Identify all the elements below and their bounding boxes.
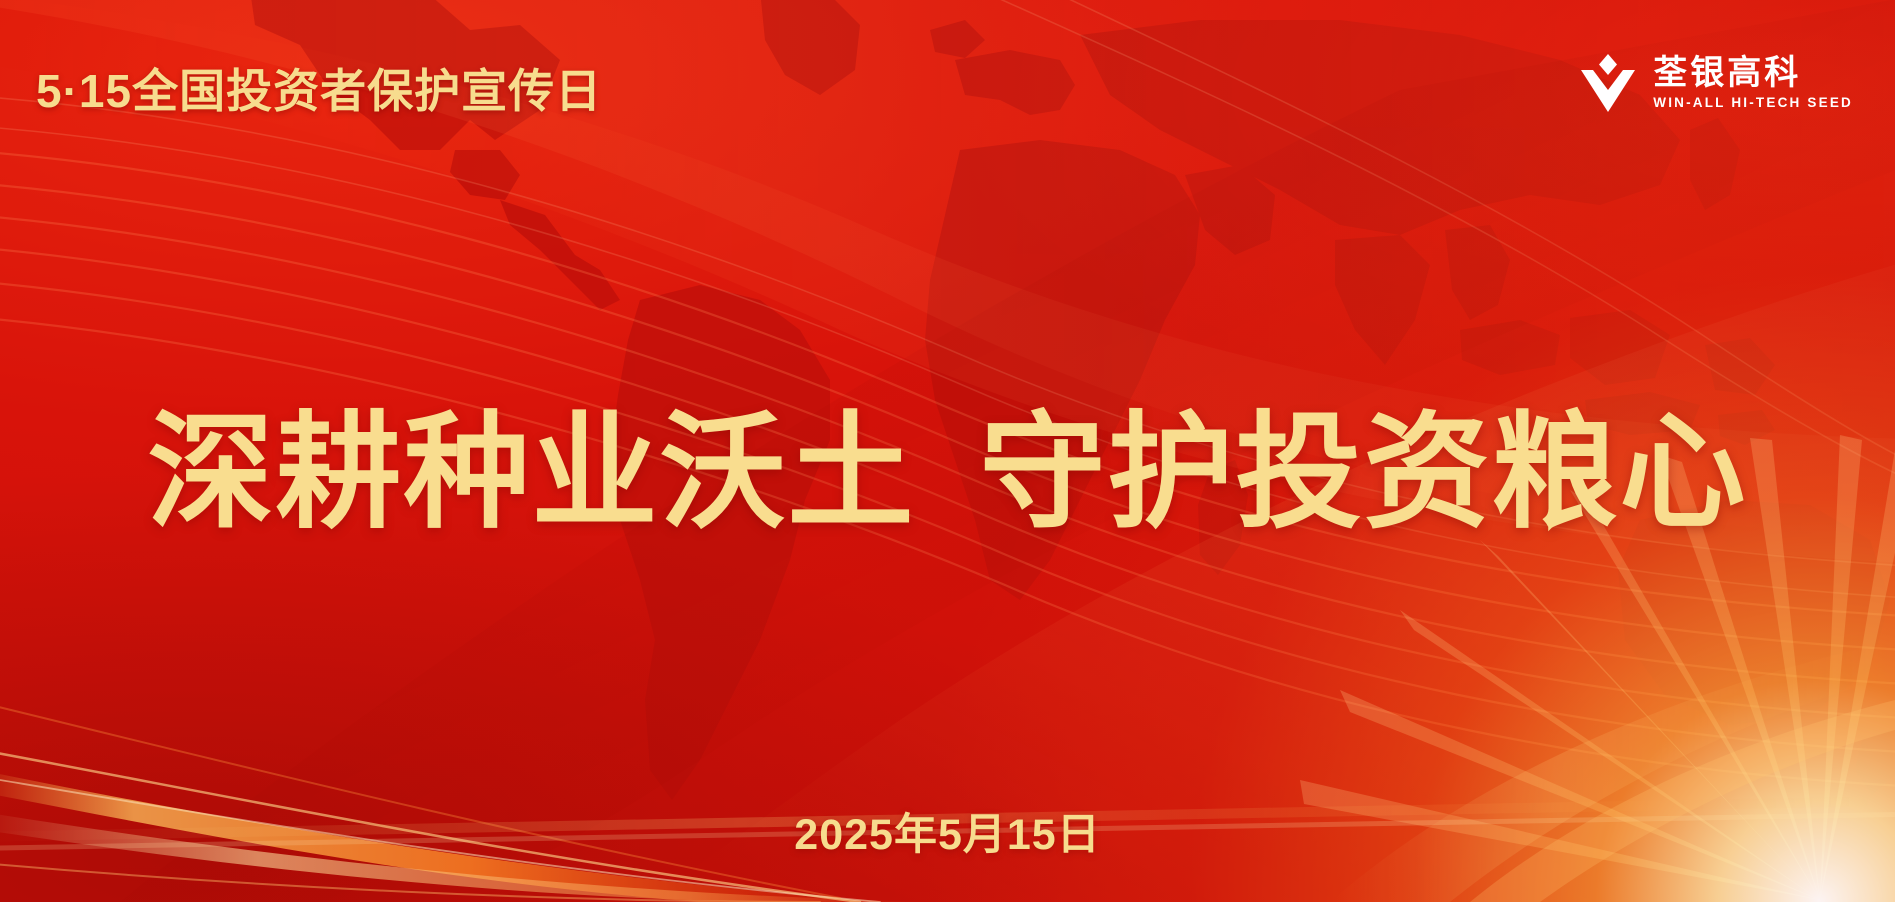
event-kicker: 5·15全国投资者保护宣传日 [36, 55, 602, 121]
logo-name-cn: 荃银高科 [1653, 56, 1853, 92]
promo-banner: 5·15全国投资者保护宣传日 荃银高科 WIN-ALL HI-TECH SEED… [0, 0, 1895, 902]
logo-name-en: WIN-ALL HI-TECH SEED [1653, 95, 1853, 110]
logo-wordmark: 荃银高科 WIN-ALL HI-TECH SEED [1653, 56, 1853, 110]
headline-part-2: 守护投资粮心 [980, 402, 1748, 543]
main-headline: 深耕种业沃土守护投资粮心 [0, 410, 1895, 536]
company-logo[interactable]: 荃银高科 WIN-ALL HI-TECH SEED [1579, 52, 1853, 114]
event-date: 2025年5月15日 [0, 800, 1895, 862]
chevron-sprout-icon [1579, 52, 1637, 114]
headline-part-1: 深耕种业沃土 [148, 402, 916, 543]
